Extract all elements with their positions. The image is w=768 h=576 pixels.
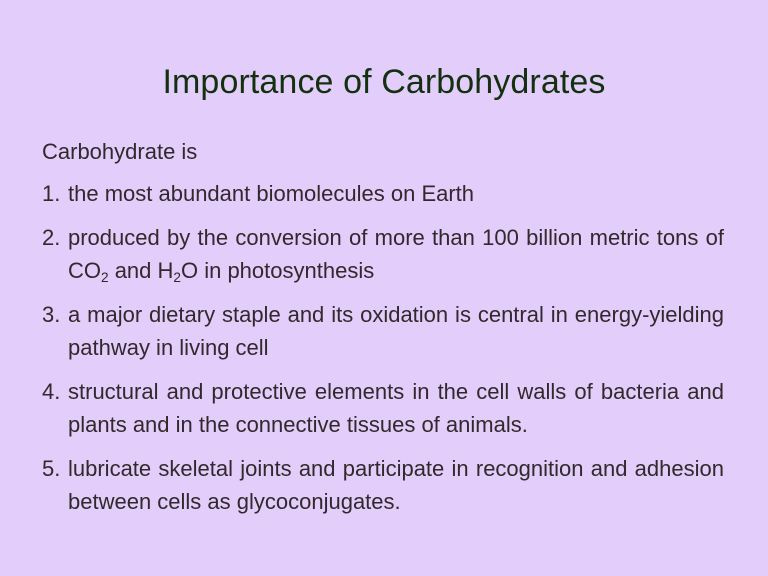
slide-title: Importance of Carbohydrates [0, 61, 768, 103]
list-item: 3.a major dietary staple and its oxidati… [42, 298, 724, 364]
list-item-text: structural and protective elements in th… [68, 375, 724, 441]
list-item-number: 2. [42, 221, 64, 254]
list-item: 2.produced by the conversion of more tha… [42, 221, 724, 287]
list-item: 4.structural and protective elements in … [42, 375, 724, 441]
subscript: 2 [101, 270, 109, 285]
list-item-text: a major dietary staple and its oxidation… [68, 298, 724, 364]
list-item: 5.lubricate skeletal joints and particip… [42, 452, 724, 518]
list-item-number: 1. [42, 177, 64, 210]
subscript: 2 [173, 270, 181, 285]
list-item-number: 4. [42, 375, 64, 408]
list-item: 1.the most abundant biomolecules on Eart… [42, 177, 724, 210]
list-item-text: the most abundant biomolecules on Earth [68, 177, 724, 210]
slide-body: Carbohydrate is 1.the most abundant biom… [42, 137, 724, 518]
numbered-list: 1.the most abundant biomolecules on Eart… [42, 177, 724, 518]
presentation-slide: Importance of Carbohydrates Carbohydrate… [0, 0, 768, 576]
list-item-text: produced by the conversion of more than … [68, 221, 724, 287]
list-item-number: 3. [42, 298, 64, 331]
lead-line: Carbohydrate is [42, 137, 724, 167]
list-item-text: lubricate skeletal joints and participat… [68, 452, 724, 518]
list-item-number: 5. [42, 452, 64, 485]
